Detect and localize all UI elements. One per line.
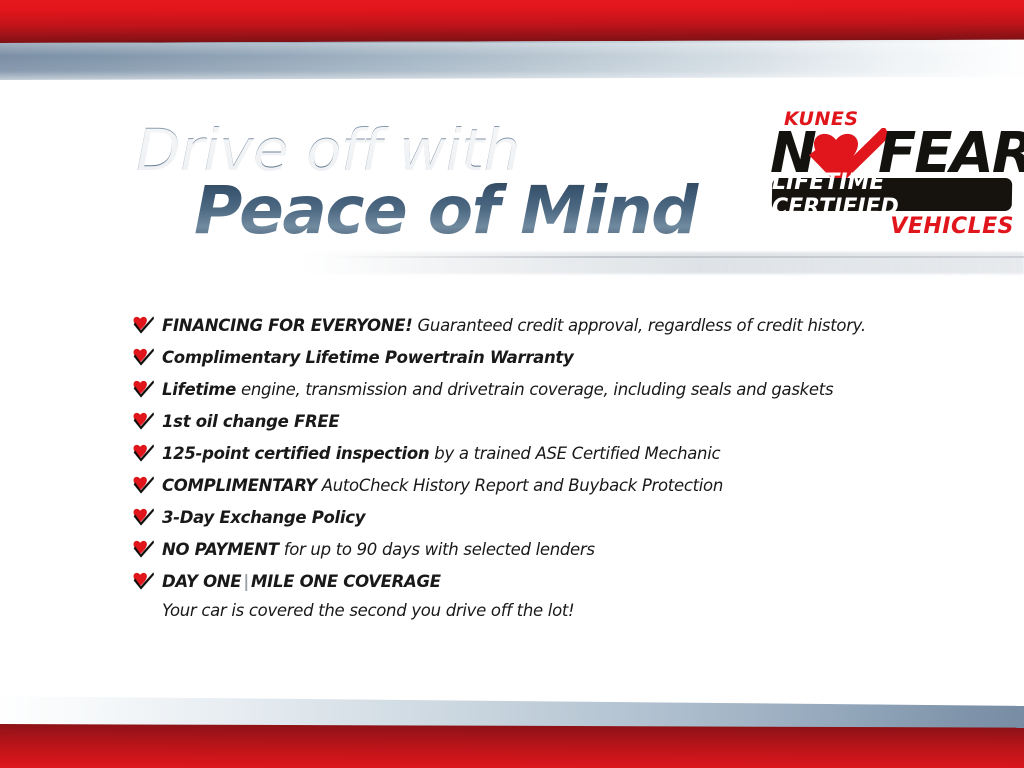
headline-line-2: Peace of Mind	[194, 176, 756, 246]
heart-check-icon	[132, 443, 154, 462]
feature-lead: 125-point certified inspection	[162, 444, 429, 463]
list-item: 125-point certified inspection by a trai…	[132, 438, 932, 470]
feature-subline: Your car is covered the second you drive…	[162, 598, 932, 624]
feature-rest: for up to 90 days with selected lenders	[279, 540, 595, 559]
heart-check-icon	[132, 539, 154, 558]
logo-certified-bar: LIFETIME CERTIFIED	[772, 178, 1013, 211]
list-item: COMPLIMENTARY AutoCheck History Report a…	[132, 470, 932, 502]
feature-lead: NO PAYMENT	[162, 540, 279, 559]
list-item-text: NO PAYMENT for up to 90 days with select…	[162, 534, 932, 566]
heart-check-icon	[132, 379, 154, 398]
top-red-stripe	[0, 0, 1024, 43]
list-item-text: DAY ONE|MILE ONE COVERAGE	[162, 566, 932, 598]
heart-check-icon	[132, 571, 154, 590]
list-item: DAY ONE|MILE ONE COVERAGE Your car is co…	[132, 566, 932, 624]
list-item: Complimentary Lifetime Powertrain Warran…	[132, 342, 932, 374]
list-item-text: FINANCING FOR EVERYONE! Guaranteed credi…	[162, 310, 932, 342]
list-item-text: Complimentary Lifetime Powertrain Warran…	[162, 342, 932, 374]
top-gray-sheen	[0, 43, 1024, 80]
list-item: Lifetime engine, transmission and drivet…	[132, 374, 932, 406]
list-item-text: COMPLIMENTARY AutoCheck History Report a…	[162, 470, 932, 502]
list-item: 1st oil change FREE	[132, 406, 932, 438]
list-item-text: Lifetime engine, transmission and drivet…	[162, 374, 932, 406]
feature-rest: engine, transmission and drivetrain cove…	[236, 380, 833, 399]
feature-lead: COMPLIMENTARY	[162, 476, 317, 495]
list-item-text: 125-point certified inspection by a trai…	[162, 438, 932, 470]
feature-lead-2: MILE ONE COVERAGE	[251, 572, 441, 591]
heart-check-icon	[132, 507, 154, 526]
list-item: NO PAYMENT for up to 90 days with select…	[132, 534, 932, 566]
feature-lead: Lifetime	[162, 380, 236, 399]
feature-lead: 3-Day Exchange Policy	[162, 508, 365, 527]
heart-check-icon	[132, 475, 154, 494]
bottom-banner	[0, 688, 1024, 768]
feature-rest: Guaranteed credit approval, regardless o…	[413, 316, 866, 335]
heart-check-icon	[132, 347, 154, 366]
list-item: FINANCING FOR EVERYONE! Guaranteed credi…	[132, 310, 932, 342]
feature-rest: AutoCheck History Report and Buyback Pro…	[317, 476, 723, 495]
heart-check-icon	[132, 411, 154, 430]
headline-line-1: Drive off with	[136, 122, 756, 178]
feature-lead: 1st oil change FREE	[162, 412, 339, 431]
feature-separator: |	[241, 572, 251, 591]
heart-check-icon	[132, 315, 154, 334]
kunes-no-fear-logo: KUNES N FEAR LIFETIME CERTIFIED VEHICLES	[768, 108, 1016, 244]
list-item-text: 1st oil change FREE	[162, 406, 932, 438]
promo-page: Drive off with Peace of Mind KUNES N FEA…	[0, 0, 1024, 768]
list-item-text: 3-Day Exchange Policy	[162, 502, 932, 534]
top-banner	[0, 0, 1024, 80]
bottom-red-stripe	[0, 724, 1024, 768]
list-item: 3-Day Exchange Policy	[132, 502, 932, 534]
feature-lead: Complimentary Lifetime Powertrain Warran…	[162, 348, 573, 367]
logo-word-vehicles: VEHICLES	[890, 214, 1014, 239]
feature-lead: FINANCING FOR EVERYONE!	[162, 316, 413, 335]
feature-rest: by a trained ASE Certified Mechanic	[429, 444, 720, 463]
headline-block: Drive off with Peace of Mind	[136, 122, 756, 246]
feature-lead: DAY ONE	[162, 572, 241, 591]
logo-certified-text: LIFETIME CERTIFIED	[772, 178, 1012, 211]
feature-list: FINANCING FOR EVERYONE! Guaranteed credi…	[132, 310, 932, 624]
divider-line	[330, 256, 1024, 258]
